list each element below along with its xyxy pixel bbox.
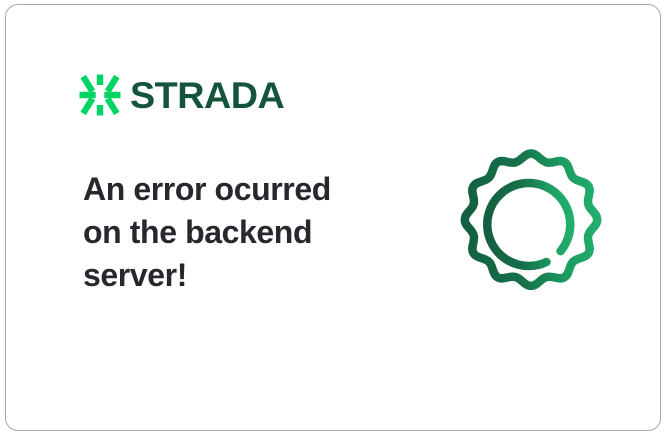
gear-outline-icon: [450, 145, 612, 307]
error-card: STRADA An error ocurred on the backend s…: [5, 4, 661, 431]
error-message-line: on the backend: [83, 211, 383, 254]
error-message: An error ocurred on the backend server!: [83, 168, 383, 297]
strada-asterisk-icon: [79, 74, 121, 116]
brand-wordmark: STRADA: [130, 77, 284, 114]
error-screen: STRADA An error ocurred on the backend s…: [0, 0, 666, 436]
brand-lockup: STRADA: [79, 73, 281, 117]
error-message-line: server!: [83, 254, 383, 297]
error-message-line: An error ocurred: [83, 168, 383, 211]
